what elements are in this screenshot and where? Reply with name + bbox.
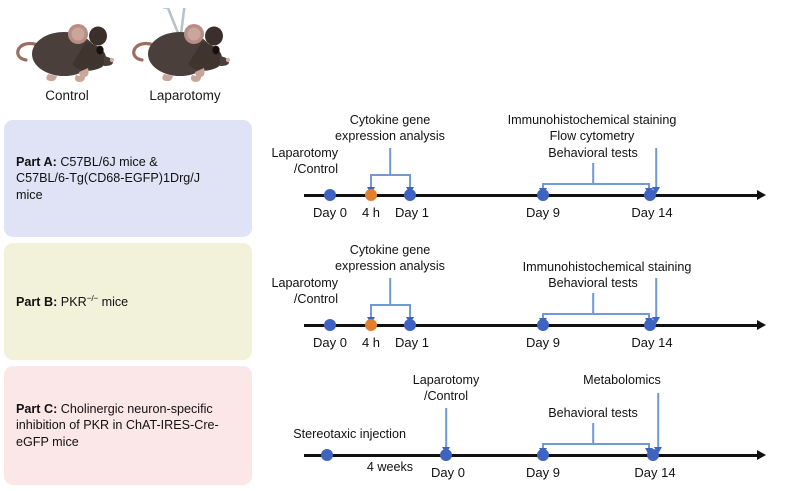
part-a-line2: C57BL/6-Tg(CD68-EGFP)1Drg/J bbox=[16, 171, 200, 185]
part-a-timeline: Cytokine gene expression analysis Laparo… bbox=[262, 105, 791, 230]
cytokine-stem-b bbox=[389, 278, 391, 305]
part-a-line1: C57BL/6J mice & bbox=[57, 155, 158, 169]
behavioral-label-b: Behavioral tests bbox=[548, 276, 638, 290]
laparotomy-stem-c bbox=[445, 408, 447, 448]
ihc-label: Immunohistochemical staining bbox=[508, 113, 677, 127]
part-c-annotation-laparotomy: Laparotomy /Control bbox=[413, 373, 480, 404]
cytokine-drop-4h-b bbox=[370, 304, 372, 318]
behavioral-bracket-b bbox=[543, 313, 649, 315]
part-c-annotation-stereotaxic: Stereotaxic injection bbox=[293, 427, 406, 443]
part-b-tail: mice bbox=[98, 295, 128, 309]
cytokine-line1: Cytokine gene bbox=[350, 113, 431, 127]
cytokine-drop-day1 bbox=[409, 174, 411, 188]
behavioral-label-c: Behavioral tests bbox=[548, 406, 638, 420]
part-b-description: Part B: PKR−/− mice bbox=[16, 293, 128, 311]
part-c-tick-day14: Day 14 bbox=[634, 465, 675, 480]
ihc-stem-b bbox=[655, 278, 657, 318]
part-c-description: Part C: Cholinergic neuron-specific inhi… bbox=[16, 401, 219, 451]
part-b-node-day1[interactable] bbox=[404, 319, 416, 331]
metabolomics-label: Metabolomics bbox=[583, 373, 661, 387]
part-b-annotation-behavioral: Behavioral tests bbox=[548, 276, 638, 292]
laparotomy-line2-b: /Control bbox=[294, 292, 338, 306]
part-c-axis-arrowhead bbox=[757, 450, 766, 460]
part-a-node-day0[interactable] bbox=[324, 189, 336, 201]
part-a-annotation-cytokine: Cytokine gene expression analysis bbox=[335, 113, 445, 144]
part-b-axis-arrowhead bbox=[757, 320, 766, 330]
cytokine-drop-day1-b bbox=[409, 304, 411, 318]
laparotomy-line1: Laparotomy bbox=[271, 146, 338, 160]
mouse-label-laparotomy: Laparotomy bbox=[120, 88, 250, 103]
part-b-node-4h[interactable] bbox=[365, 319, 377, 331]
part-c-line3: eGFP mice bbox=[16, 435, 79, 449]
behavioral-stem bbox=[592, 163, 594, 184]
cytokine-bracket bbox=[371, 174, 410, 176]
part-c-node-day9[interactable] bbox=[537, 449, 549, 461]
part-a-tick-day0: Day 0 bbox=[313, 205, 347, 220]
ihc-label-b: Immunohistochemical staining bbox=[523, 260, 692, 274]
part-b-superscript: −/− bbox=[87, 293, 98, 303]
part-b-node-day0[interactable] bbox=[324, 319, 336, 331]
part-c-node-day14[interactable] bbox=[647, 449, 659, 461]
part-b-annotation-ihc: Immunohistochemical staining bbox=[523, 260, 692, 276]
part-a-node-4h[interactable] bbox=[365, 189, 377, 201]
cytokine-line1-b: Cytokine gene bbox=[350, 243, 431, 257]
part-c-annotation-4weeks: 4 weeks bbox=[367, 460, 413, 476]
part-a-tick-day14: Day 14 bbox=[631, 205, 672, 220]
mouse-icon-laparotomy bbox=[128, 8, 238, 98]
part-b-node-day9[interactable] bbox=[537, 319, 549, 331]
part-a-tick-day9: Day 9 bbox=[526, 205, 560, 220]
part-c-line2: inhibition of PKR in ChAT-IRES-Cre- bbox=[16, 418, 219, 432]
mice-illustration-area: Control bbox=[0, 0, 262, 118]
part-b-annotation-cytokine: Cytokine gene expression analysis bbox=[335, 243, 445, 274]
mouse-label-control: Control bbox=[12, 88, 122, 103]
laparotomy-line1-c: Laparotomy bbox=[413, 373, 480, 387]
behavioral-stem-b bbox=[592, 293, 594, 314]
part-a-prefix: Part A: bbox=[16, 155, 57, 169]
part-a-annotation-behavioral: Behavioral tests bbox=[548, 146, 638, 162]
part-b-tick-day1: Day 1 bbox=[395, 335, 429, 350]
part-c-line1: Cholinergic neuron-specific bbox=[57, 402, 212, 416]
part-a-node-day14[interactable] bbox=[644, 189, 656, 201]
behavioral-bracket bbox=[543, 183, 649, 185]
flow-label: Flow cytometry bbox=[550, 129, 635, 143]
part-b-tick-day0: Day 0 bbox=[313, 335, 347, 350]
figure-canvas: Control bbox=[0, 0, 791, 491]
part-c-timeline: Laparotomy /Control Metabolomics Behavio… bbox=[262, 365, 791, 491]
part-a-node-day9[interactable] bbox=[537, 189, 549, 201]
cytokine-drop-4h bbox=[370, 174, 372, 188]
part-a-annotation-ihc-flow: Immunohistochemical staining Flow cytome… bbox=[508, 113, 677, 144]
part-a-tick-day1: Day 1 bbox=[395, 205, 429, 220]
part-a-tick-4h: 4 h bbox=[362, 205, 380, 220]
metabolomics-stem bbox=[657, 393, 659, 448]
cytokine-bracket-b bbox=[371, 304, 410, 306]
cytokine-line2: expression analysis bbox=[335, 129, 445, 143]
part-c-tick-day9: Day 9 bbox=[526, 465, 560, 480]
part-b-node-day14[interactable] bbox=[644, 319, 656, 331]
part-c-prefix: Part C: bbox=[16, 402, 57, 416]
laparotomy-line1-b: Laparotomy bbox=[271, 276, 338, 290]
part-c-tick-day0: Day 0 bbox=[431, 465, 465, 480]
part-c-box: Part C: Cholinergic neuron-specific inhi… bbox=[4, 366, 252, 485]
part-a-line3: mice bbox=[16, 188, 43, 202]
behavioral-bracket-c bbox=[543, 443, 649, 445]
part-c-annotation-behavioral: Behavioral tests bbox=[548, 406, 638, 422]
cytokine-line2-b: expression analysis bbox=[335, 259, 445, 273]
part-b-tick-day14: Day 14 bbox=[631, 335, 672, 350]
part-a-box: Part A: C57BL/6J mice & C57BL/6-Tg(CD68-… bbox=[4, 120, 252, 237]
part-b-prefix: Part B: bbox=[16, 295, 57, 309]
cytokine-stem bbox=[389, 148, 391, 175]
part-c-annotation-metabolomics: Metabolomics bbox=[583, 373, 661, 389]
part-b-tick-4h: 4 h bbox=[362, 335, 380, 350]
behavioral-label: Behavioral tests bbox=[548, 146, 638, 160]
laparotomy-line2-c: /Control bbox=[424, 389, 468, 403]
part-b-name: PKR bbox=[57, 295, 86, 309]
part-b-tick-day9: Day 9 bbox=[526, 335, 560, 350]
stereotaxic-label: Stereotaxic injection bbox=[293, 427, 406, 441]
part-c-node-stereotaxic[interactable] bbox=[321, 449, 333, 461]
part-a-annotation-laparotomy: Laparotomy /Control bbox=[271, 146, 338, 177]
mouse-icon-control bbox=[12, 8, 122, 98]
part-a-axis-arrowhead bbox=[757, 190, 766, 200]
part-b-box: Part B: PKR−/− mice bbox=[4, 243, 252, 360]
behavioral-stem-c bbox=[592, 423, 594, 444]
part-a-node-day1[interactable] bbox=[404, 189, 416, 201]
four-weeks-label: 4 weeks bbox=[367, 460, 413, 474]
ihc-flow-stem bbox=[655, 148, 657, 188]
part-c-node-day0[interactable] bbox=[440, 449, 452, 461]
laparotomy-line2: /Control bbox=[294, 162, 338, 176]
part-b-timeline: Cytokine gene expression analysis Laparo… bbox=[262, 235, 791, 360]
part-a-description: Part A: C57BL/6J mice & C57BL/6-Tg(CD68-… bbox=[16, 154, 200, 204]
part-b-annotation-laparotomy: Laparotomy /Control bbox=[271, 276, 338, 307]
part-c-axis-line bbox=[304, 454, 759, 457]
